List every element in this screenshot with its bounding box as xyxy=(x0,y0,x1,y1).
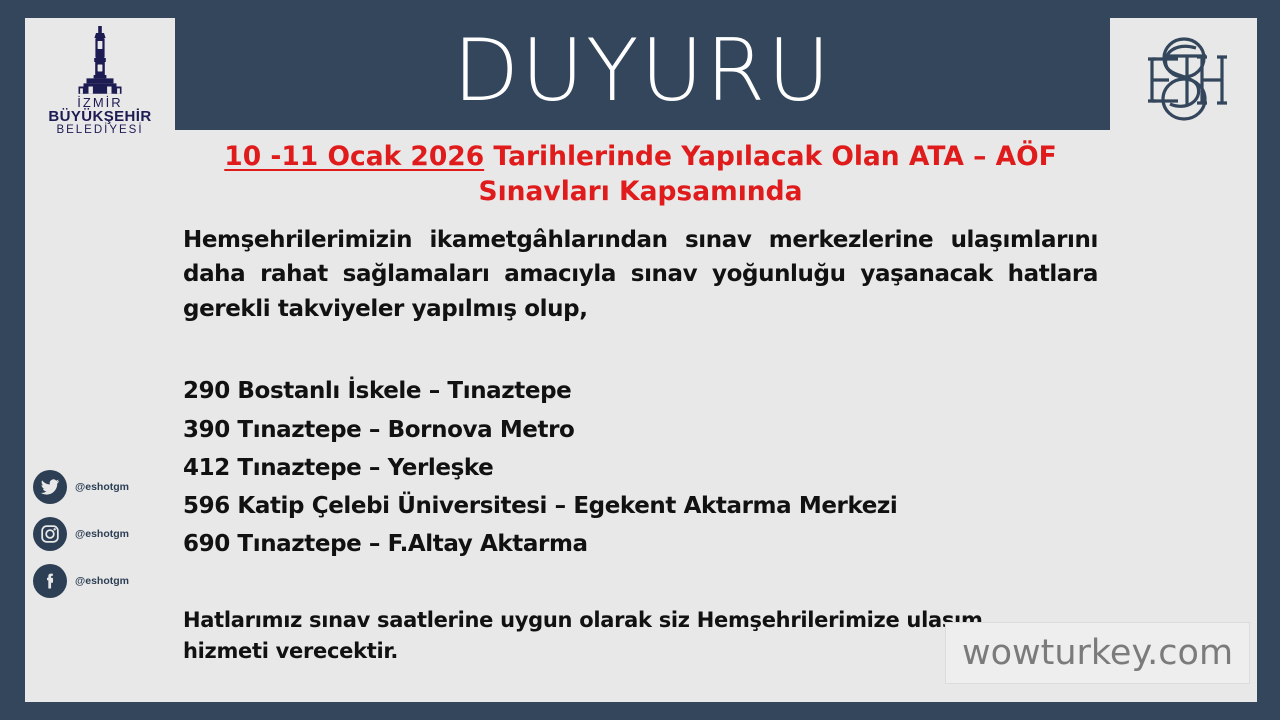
social-links: @eshotgm @eshotgm @esh xyxy=(33,470,173,611)
intro-paragraph: Hemşehrilerimizin ikametgâhlarından sına… xyxy=(183,223,1098,327)
header-band: DUYURU xyxy=(175,18,1110,130)
announcement-headline: 10 -11 Ocak 2026 Tarihlerinde Yapılacak … xyxy=(183,140,1098,210)
list-item: 290 Bostanlı İskele – Tınaztepe xyxy=(183,372,1098,410)
izmir-belediyesi-logo: İZMİR BÜYÜKŞEHİR BELEDİYESİ xyxy=(25,18,175,145)
social-row-facebook[interactable]: @eshotgm xyxy=(33,564,173,598)
eshot-logo xyxy=(1110,18,1257,145)
logo-line-belediyesi: BELEDİYESİ xyxy=(56,125,143,137)
page-title: DUYURU xyxy=(175,18,1110,130)
outro-paragraph: Hatlarımız sınav saatlerine uygun olarak… xyxy=(183,605,1028,667)
social-handle-twitter: @eshotgm xyxy=(75,481,129,493)
social-handle-instagram: @eshotgm xyxy=(75,528,129,540)
facebook-icon[interactable] xyxy=(33,564,67,598)
twitter-icon[interactable] xyxy=(33,470,67,504)
social-row-instagram[interactable]: @eshotgm xyxy=(33,517,173,551)
logo-line-izmir: İZMİR xyxy=(77,96,122,109)
announcement-body: 10 -11 Ocak 2026 Tarihlerinde Yapılacak … xyxy=(183,140,1098,667)
headline-date: 10 -11 Ocak 2026 xyxy=(224,141,484,172)
eshot-monogram-icon xyxy=(1132,25,1236,138)
social-row-twitter[interactable]: @eshotgm xyxy=(33,470,173,504)
list-item: 390 Tınaztepe – Bornova Metro xyxy=(183,411,1098,449)
route-list: 290 Bostanlı İskele – Tınaztepe 390 Tına… xyxy=(183,372,1098,563)
social-handle-facebook: @eshotgm xyxy=(75,575,129,587)
logo-line-buyuksehir: BÜYÜKŞEHİR xyxy=(48,109,151,124)
list-item: 690 Tınaztepe – F.Altay Aktarma xyxy=(183,525,1098,563)
clock-tower-icon xyxy=(65,24,135,96)
poster-sheet: DUYURU xyxy=(25,18,1257,702)
poster-root: DUYURU xyxy=(0,0,1280,720)
list-item: 596 Katip Çelebi Üniversitesi – Egekent … xyxy=(183,487,1098,525)
watermark: wowturkey.com xyxy=(945,622,1250,684)
list-item: 412 Tınaztepe – Yerleşke xyxy=(183,449,1098,487)
instagram-icon[interactable] xyxy=(33,517,67,551)
headline-rest: Tarihlerinde Yapılacak Olan ATA – AÖF Sı… xyxy=(479,141,1057,207)
